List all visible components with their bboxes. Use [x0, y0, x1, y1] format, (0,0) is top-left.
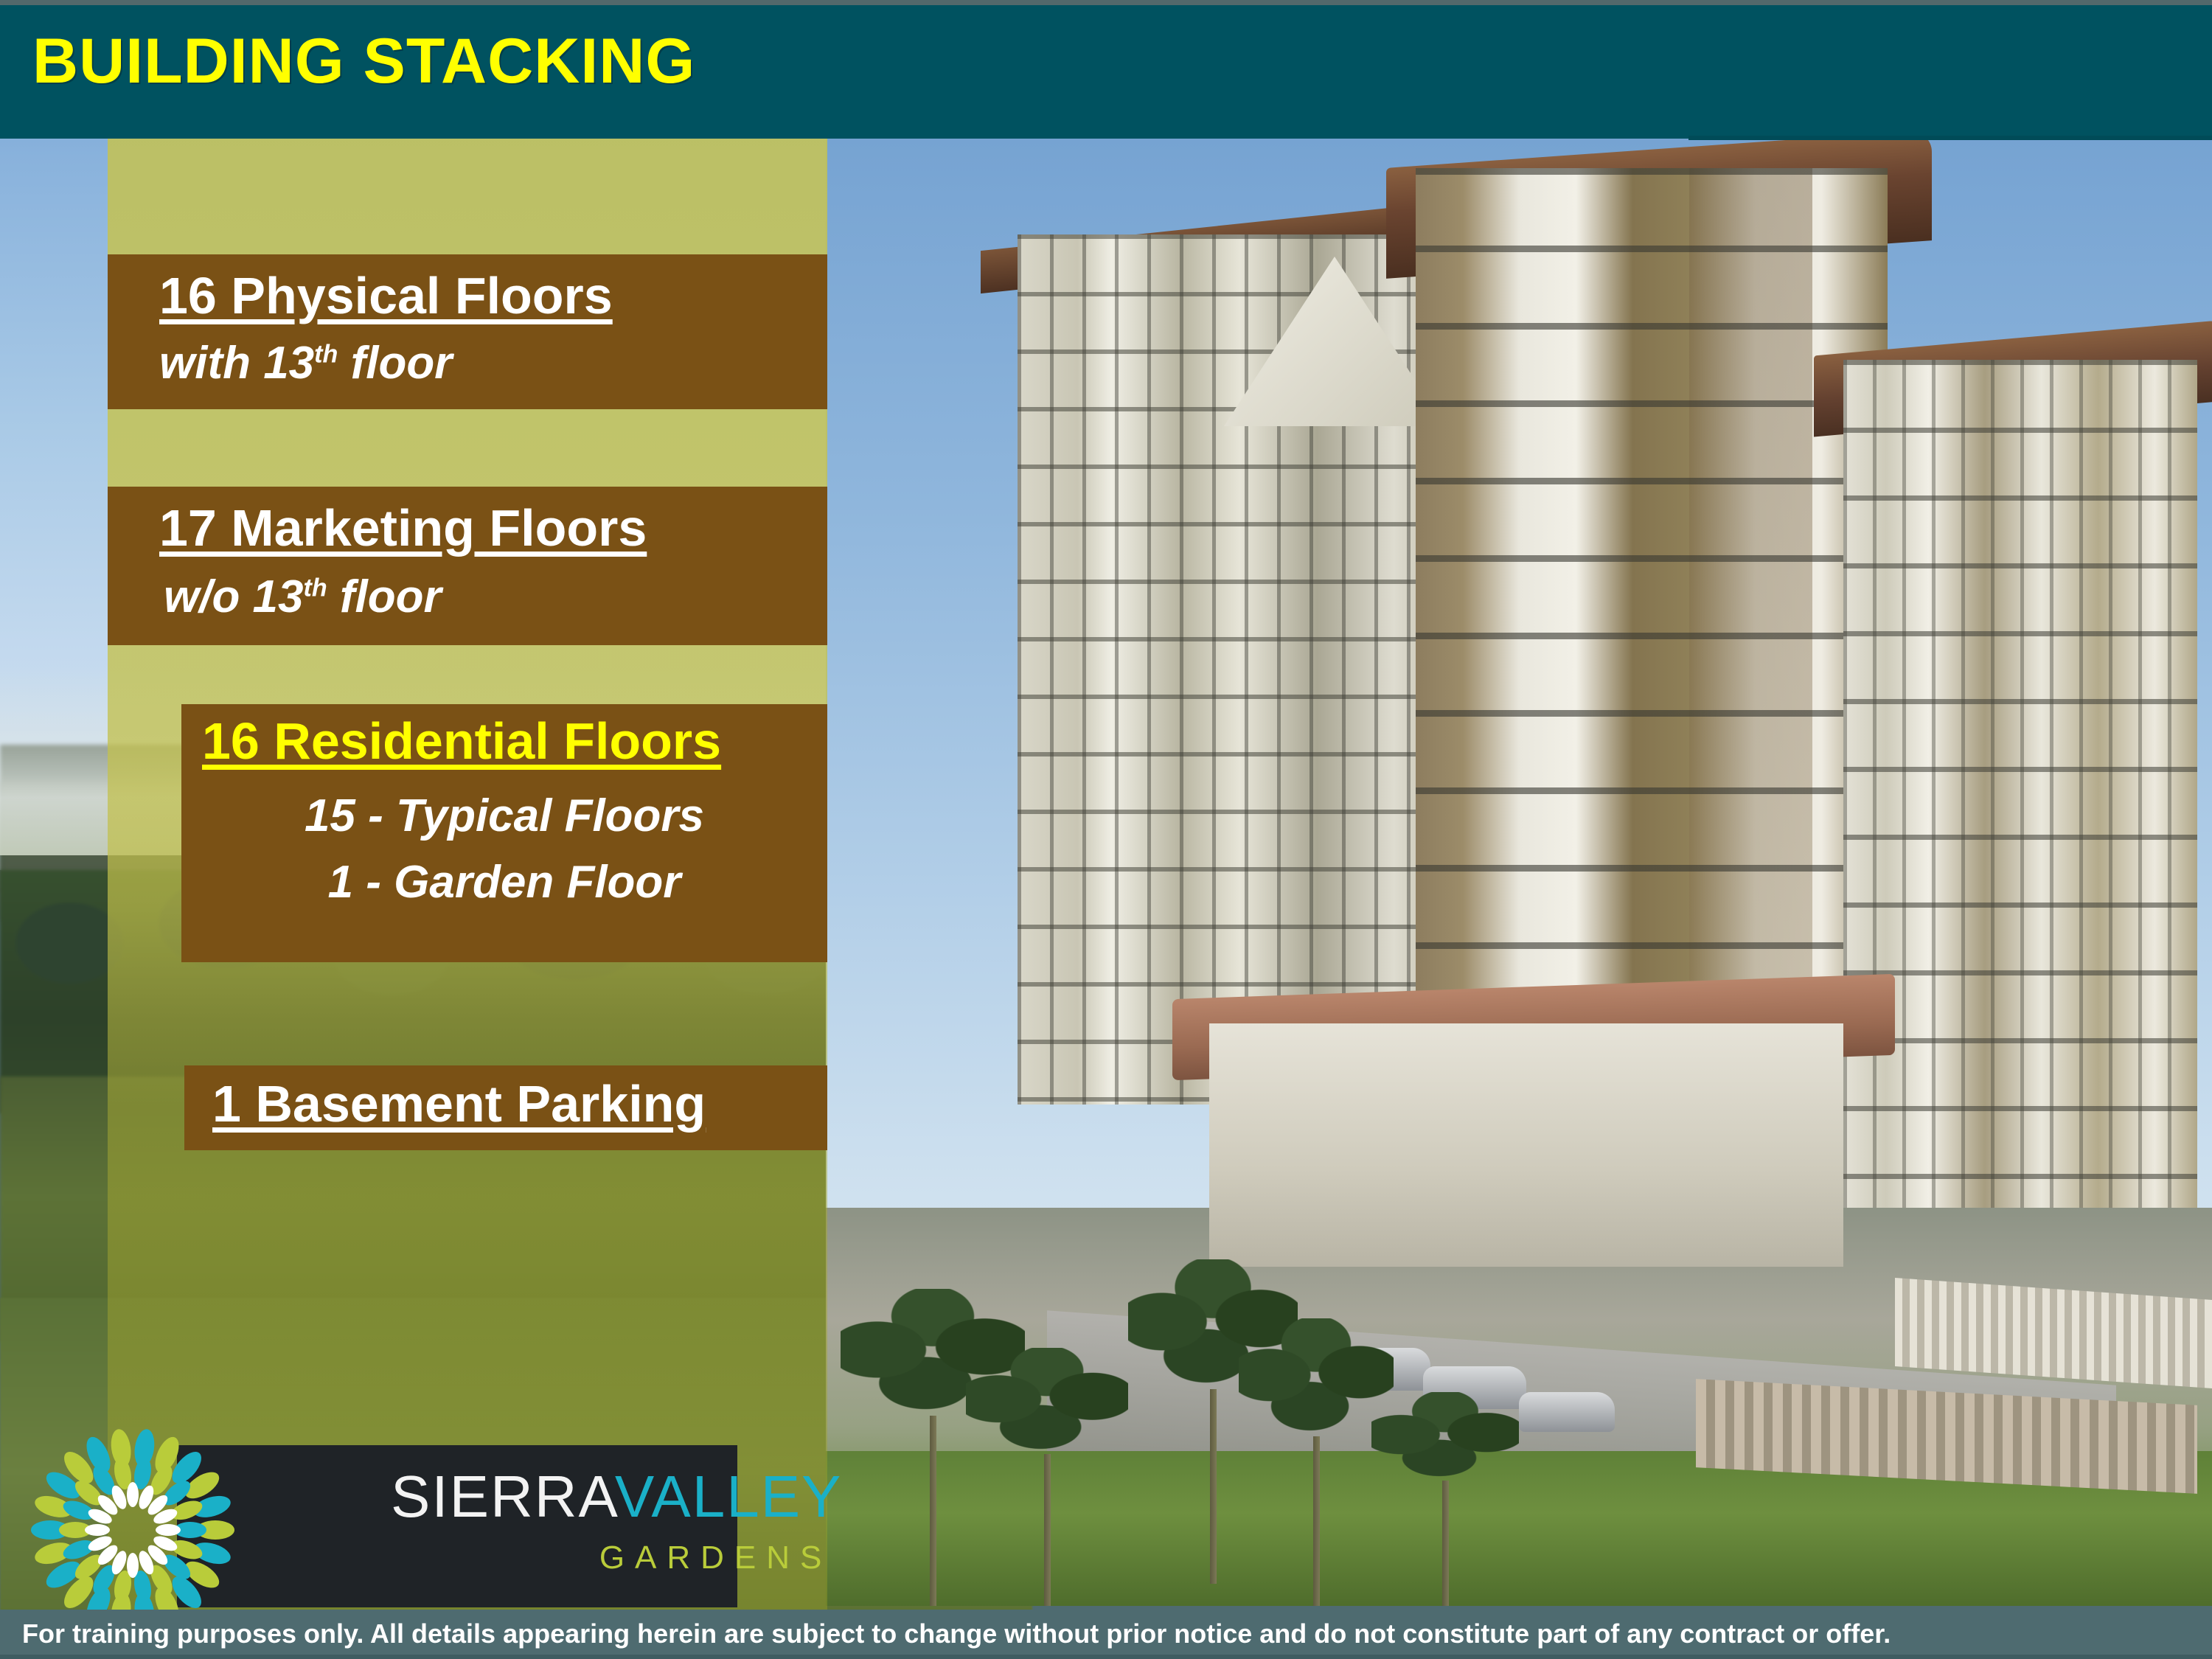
clubhouse-podium — [1209, 1023, 1843, 1267]
info-box-heading: 1 Basement Parking — [212, 1074, 706, 1133]
palm-tree — [966, 1348, 1128, 1606]
info-box-basement-parking: 1 Basement Parking — [184, 1065, 827, 1150]
subtext-suffix: floor — [338, 338, 452, 389]
palm-tree — [1239, 1318, 1394, 1606]
info-box-heading: 17 Marketing Floors — [159, 498, 647, 557]
info-box-heading: 16 Physical Floors — [159, 266, 613, 325]
info-box-marketing-floors: 17 Marketing Floors w/o 13th floor — [108, 487, 827, 645]
subtext-suffix: floor — [327, 571, 442, 622]
subtext-ordinal: th — [304, 574, 327, 602]
info-box-line-garden-floor: 1 - Garden Floor — [181, 856, 827, 908]
slide-header-bar-extension — [1688, 136, 2212, 140]
info-box-residential-floors: 16 Residential Floors 15 - Typical Floor… — [181, 704, 827, 962]
brand-wordmark: SIERRAVALLEY GARDENS — [391, 1467, 842, 1576]
disclaimer-text: For training purposes only. All details … — [22, 1618, 1891, 1649]
brand-logo: SIERRAVALLEY GARDENS — [177, 1445, 737, 1607]
building-render-image — [826, 139, 2212, 1606]
brand-word-gardens: GARDENS — [391, 1540, 842, 1576]
info-box-heading: 16 Residential Floors — [202, 712, 721, 771]
info-box-line-typical-floors: 15 - Typical Floors — [181, 790, 827, 842]
brand-word-valley: VALLEY — [615, 1464, 842, 1529]
tower-right — [1843, 360, 2197, 1208]
brand-word-sierra: SIERRA — [391, 1464, 615, 1529]
slide-top-border — [0, 0, 2212, 5]
parked-car — [1519, 1392, 1615, 1432]
footer-bottom-border — [0, 1655, 2212, 1659]
tower-right-mullions — [1843, 360, 2197, 1208]
page-title: BUILDING STACKING — [32, 25, 695, 98]
palm-tree — [1371, 1392, 1519, 1606]
info-box-subtext: with 13th floor — [159, 337, 452, 389]
subtext-prefix: w/o 13 — [164, 571, 304, 622]
subtext-prefix: with 13 — [159, 338, 314, 389]
info-box-physical-floors: 16 Physical Floors with 13th floor — [108, 254, 827, 409]
presentation-slide: BUILDING STACKING 16 Physical Floors wit… — [0, 0, 2212, 1659]
brand-name-line: SIERRAVALLEY — [391, 1467, 842, 1526]
subtext-ordinal: th — [314, 340, 338, 368]
info-box-subtext: w/o 13th floor — [164, 571, 442, 623]
